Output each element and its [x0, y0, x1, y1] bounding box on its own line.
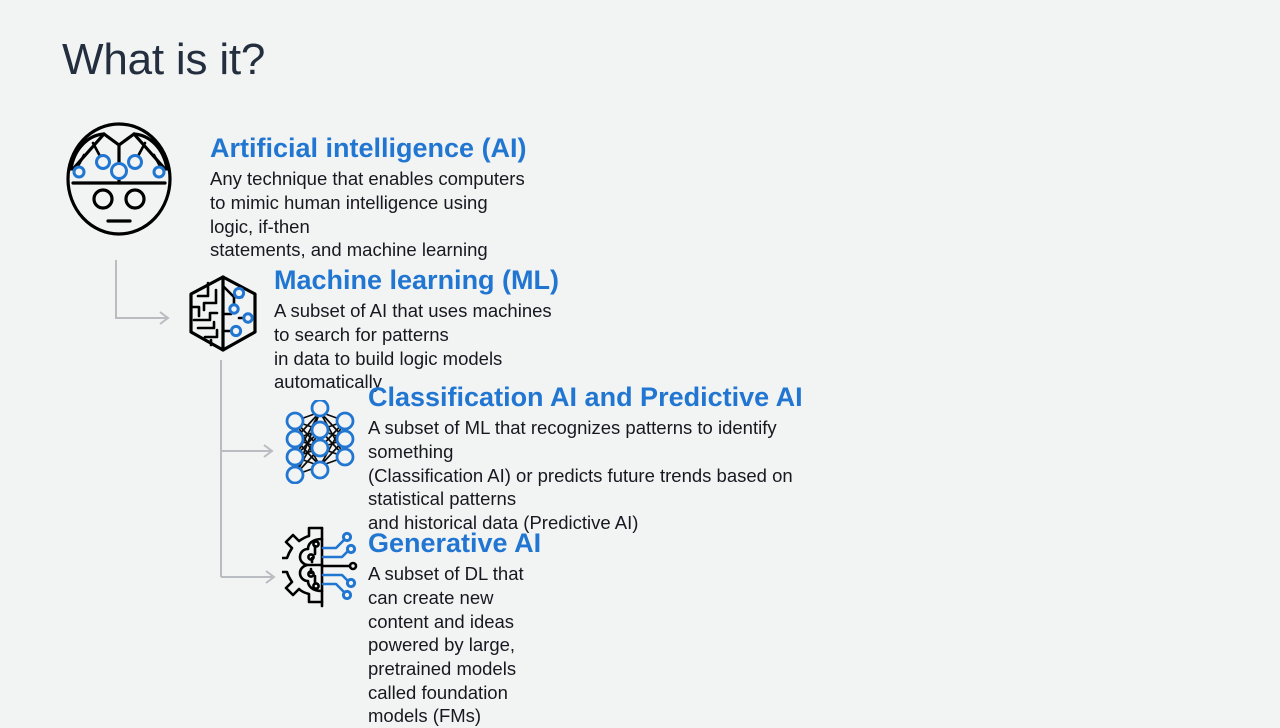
- connector-ai-to-ml: [108, 258, 188, 328]
- heading-artificial-intelligence: Artificial intelligence (AI): [210, 133, 527, 163]
- section-text-classification-predictive-ai: Classification AI and Predictive AI A su…: [368, 382, 803, 535]
- body-classification-predictive-ai: A subset of ML that recognizes patterns …: [368, 416, 803, 534]
- generative-ai-gear-brain-icon: [282, 524, 362, 610]
- body-generative-ai: A subset of DL that can create new conte…: [368, 562, 541, 728]
- connector-ml-to-generative: [221, 571, 274, 583]
- slide-canvas: What is it?: [0, 0, 1280, 720]
- heading-classification-predictive-ai: Classification AI and Predictive AI: [368, 382, 803, 412]
- body-artificial-intelligence: Any technique that enables computers to …: [210, 167, 527, 262]
- neural-network-icon: [284, 400, 356, 484]
- ai-head-icon: [64, 122, 174, 237]
- heading-generative-ai: Generative AI: [368, 528, 541, 558]
- section-text-artificial-intelligence: Artificial intelligence (AI) Any techniq…: [210, 133, 527, 262]
- section-text-generative-ai: Generative AI A subset of DL that can cr…: [368, 528, 541, 728]
- page-title: What is it?: [62, 36, 265, 84]
- body-machine-learning: A subset of AI that uses machines to sea…: [274, 299, 559, 394]
- section-text-machine-learning: Machine learning (ML) A subset of AI tha…: [274, 265, 559, 394]
- connector-ml-to-classification: [221, 445, 272, 457]
- machine-learning-brain-icon: [184, 274, 262, 354]
- heading-machine-learning: Machine learning (ML): [274, 265, 559, 295]
